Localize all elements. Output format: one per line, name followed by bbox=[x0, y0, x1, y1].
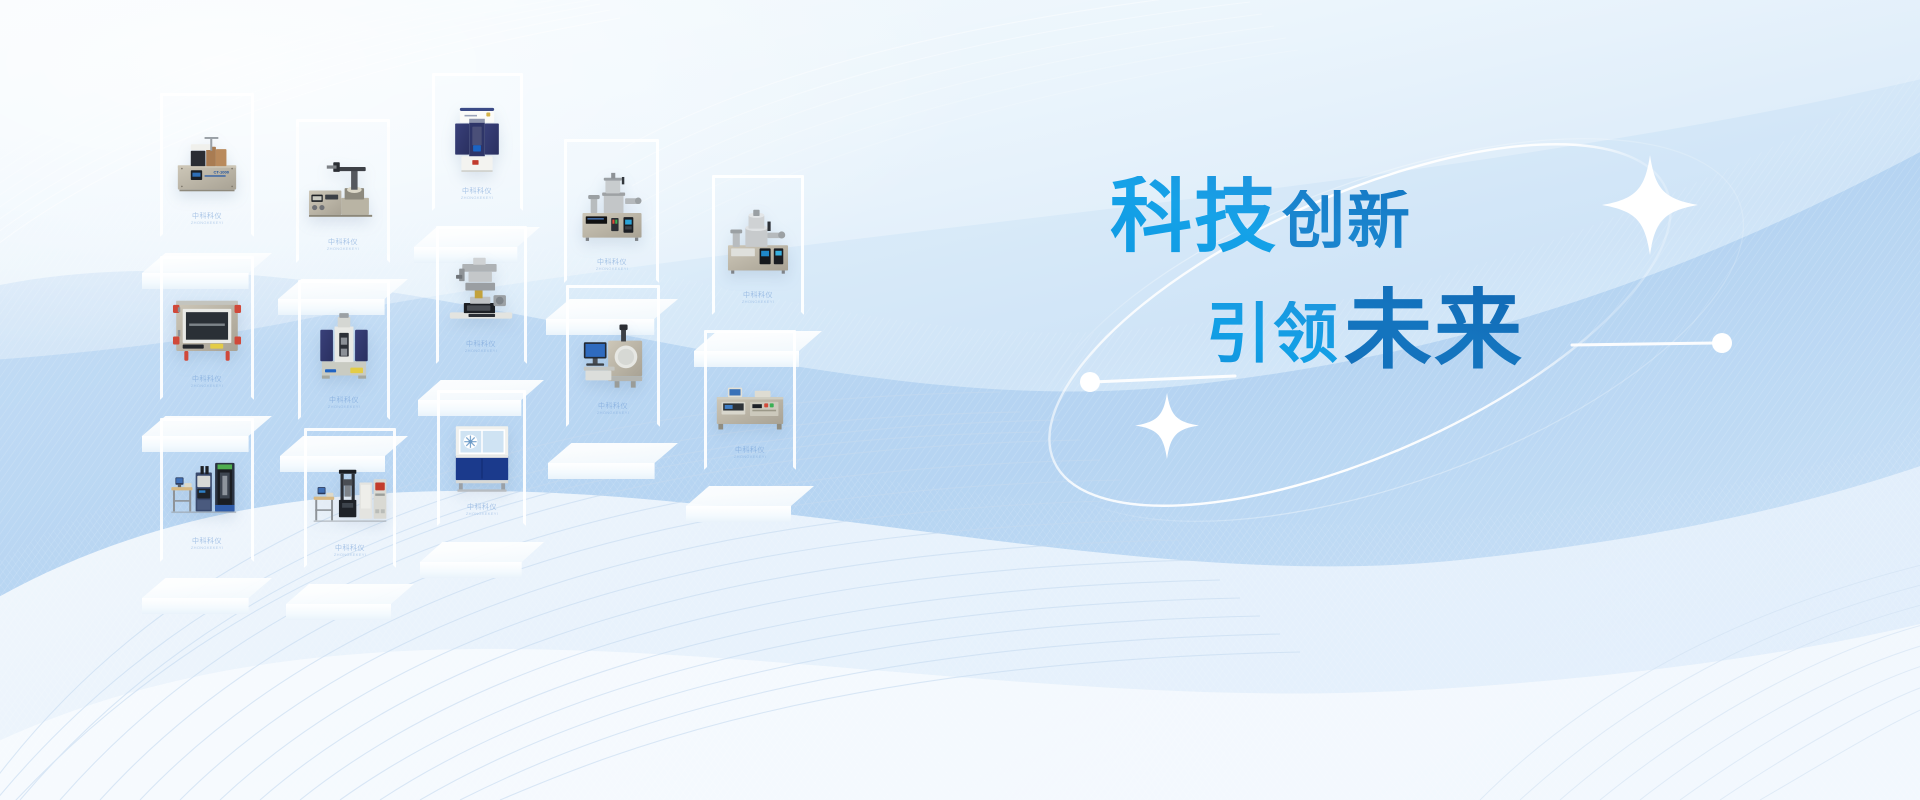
watermark-line-2: ZHONGKEKEYI bbox=[597, 411, 629, 415]
pedestal-plinth bbox=[286, 584, 414, 620]
pedestal-plinth bbox=[548, 443, 678, 479]
product-pedestal[interactable]: 中科科仪 ZHONGKEKEYI bbox=[548, 285, 678, 479]
watermark-line-2: ZHONGKEKEYI bbox=[461, 196, 493, 200]
product-pedestal[interactable]: 中科科仪 ZHONGKEKEYI bbox=[142, 418, 272, 614]
product-image bbox=[305, 300, 384, 391]
product-image bbox=[444, 410, 521, 498]
product-watermark: 中科科仪 ZHONGKEKEYI bbox=[327, 239, 359, 251]
product-pedestal[interactable]: 中科科仪 ZHONGKEKEYI bbox=[286, 428, 414, 620]
sparkle-top-right bbox=[1602, 155, 1698, 255]
headline-line-1: 科技创新 bbox=[1110, 176, 1524, 258]
pedestal-front-face bbox=[286, 604, 414, 620]
headline-primary-1: 科技 bbox=[1110, 176, 1278, 258]
pedestal-plinth bbox=[142, 578, 272, 614]
watermark-line-2: ZHONGKEKEYI bbox=[191, 546, 223, 550]
watermark-line-2: ZHONGKEKEYI bbox=[327, 247, 359, 251]
product-image bbox=[573, 306, 654, 398]
pedestal-front-face bbox=[686, 506, 814, 522]
product-image bbox=[167, 439, 248, 532]
pedestal-top-face bbox=[420, 542, 544, 562]
product-pedestal[interactable]: 中科科仪 ZHONGKEKEYI bbox=[418, 226, 544, 416]
node-dot-right bbox=[1572, 333, 1732, 353]
pedestal-front-face bbox=[142, 598, 272, 614]
watermark-line-2: ZHONGKEKEYI bbox=[191, 384, 223, 388]
node-dot-left bbox=[1080, 372, 1235, 392]
product-watermark: 中科科仪 ZHONGKEKEYI bbox=[461, 188, 493, 200]
pedestal-top-face bbox=[142, 578, 272, 598]
product-watermark: 中科科仪 ZHONGKEKEYI bbox=[734, 447, 766, 459]
product-watermark: 中科科仪 ZHONGKEKEYI bbox=[334, 545, 366, 557]
product-image bbox=[571, 160, 653, 253]
product-image bbox=[303, 140, 384, 233]
watermark-line-2: ZHONGKEKEYI bbox=[596, 267, 628, 271]
watermark-line-2: ZHONGKEKEYI bbox=[466, 512, 498, 516]
watermark-line-2: ZHONGKEKEYI bbox=[742, 300, 774, 304]
sparkle-bottom-left bbox=[1135, 393, 1199, 459]
product-watermark: 中科科仪 ZHONGKEKEYI bbox=[328, 397, 360, 409]
watermark-line-2: ZHONGKEKEYI bbox=[465, 349, 497, 353]
product-image: CT-1000 bbox=[167, 114, 248, 207]
headline-primary-2: 引领 bbox=[1206, 301, 1340, 366]
pedestal-top-face bbox=[548, 443, 678, 463]
pedestal-plinth bbox=[686, 486, 814, 522]
product-watermark: 中科科仪 ZHONGKEKEYI bbox=[596, 259, 628, 271]
product-image bbox=[442, 246, 520, 335]
product-pedestal[interactable]: 中科科仪 ZHONGKEKEYI bbox=[420, 390, 544, 578]
pedestal-front-face bbox=[548, 463, 678, 479]
hero-banner: CT-1000 中科科仪 ZHONGKEKEYI bbox=[0, 0, 1920, 800]
headline-line-2: 引领未来 bbox=[1206, 282, 1524, 370]
product-pedestal[interactable]: 中科科仪 ZHONGKEKEYI bbox=[686, 330, 814, 522]
watermark-line-2: ZHONGKEKEYI bbox=[328, 405, 360, 409]
headline-secondary-2: 未来 bbox=[1344, 286, 1524, 374]
product-watermark: 中科科仪 ZHONGKEKEYI bbox=[597, 403, 629, 415]
product-watermark: 中科科仪 ZHONGKEKEYI bbox=[191, 213, 223, 225]
pedestal-top-face bbox=[686, 486, 814, 506]
watermark-line-2: ZHONGKEKEYI bbox=[734, 455, 766, 459]
headline-secondary-1: 创新 bbox=[1282, 190, 1412, 253]
watermark-line-2: ZHONGKEKEYI bbox=[191, 221, 223, 225]
product-watermark: 中科科仪 ZHONGKEKEYI bbox=[465, 341, 497, 353]
product-watermark: 中科科仪 ZHONGKEKEYI bbox=[191, 376, 223, 388]
product-image bbox=[711, 350, 790, 441]
product-watermark: 中科科仪 ZHONGKEKEYI bbox=[191, 538, 223, 550]
pedestal-plinth bbox=[420, 542, 544, 578]
product-image bbox=[167, 277, 248, 370]
product-image bbox=[311, 448, 390, 539]
watermark-line-2: ZHONGKEKEYI bbox=[334, 553, 366, 557]
product-image bbox=[719, 195, 798, 286]
product-watermark: 中科科仪 ZHONGKEKEYI bbox=[742, 292, 774, 304]
product-image bbox=[438, 93, 516, 182]
product-watermark: 中科科仪 ZHONGKEKEYI bbox=[466, 504, 498, 516]
headline-block: 科技创新 引领未来 bbox=[1110, 176, 1524, 370]
pedestal-front-face bbox=[420, 562, 544, 578]
pedestal-top-face bbox=[286, 584, 414, 604]
svg-text:CT-1000: CT-1000 bbox=[213, 169, 229, 174]
